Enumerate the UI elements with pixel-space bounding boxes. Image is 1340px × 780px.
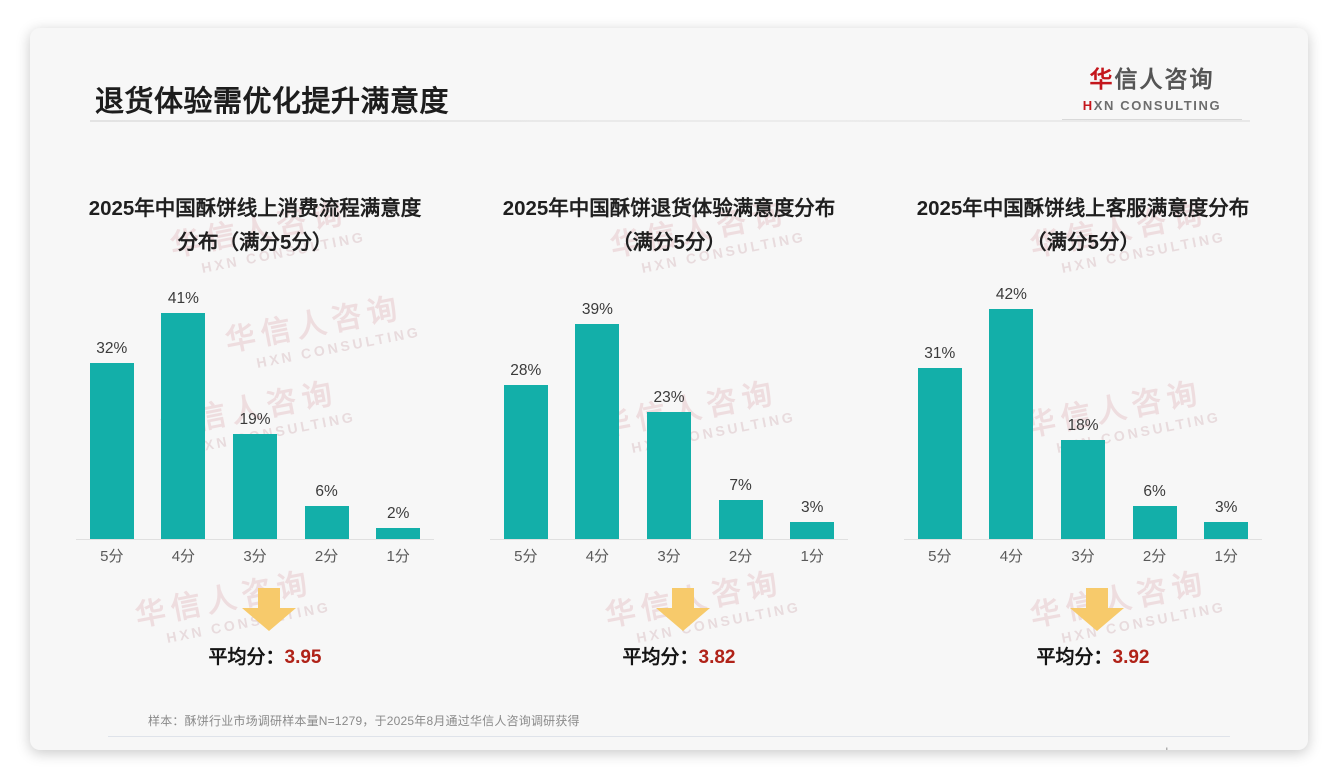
bar[interactable] xyxy=(504,385,548,539)
bar-value-label: 2% xyxy=(387,505,409,523)
down-arrow-wrap xyxy=(462,584,876,636)
x-axis-ticks: 5分 4分 3分 2分 1分 xyxy=(76,542,434,576)
slide-canvas: 华信人咨询 HXN CONSULTING 华信人咨询 HXN CONSULTIN… xyxy=(30,28,1308,750)
bar-series: 32% 41% 19% 6% xyxy=(76,286,434,539)
x-tick-label: 2分 xyxy=(705,542,777,576)
bar-value-label: 39% xyxy=(582,301,613,319)
x-tick-label: 3分 xyxy=(219,542,291,576)
chart-panel-return-experience: 2025年中国酥饼退货体验满意度分布（满分5分） 28% 39% 23% xyxy=(462,138,876,678)
x-axis-ticks: 5分 4分 3分 2分 1分 xyxy=(490,542,848,576)
bar-slot[interactable]: 6% xyxy=(291,286,363,539)
charts-row: 2025年中国酥饼线上消费流程满意度分布（满分5分） 32% 41% 19% xyxy=(48,138,1290,678)
bar-value-label: 3% xyxy=(1215,499,1237,517)
x-tick-label: 2分 xyxy=(291,542,363,576)
average-score: 平均分：3.92 xyxy=(876,642,1290,669)
bar-slot[interactable]: 42% xyxy=(976,286,1048,539)
bar-value-label: 28% xyxy=(510,362,541,380)
slide-header: 退货体验需优化提升满意度 华信人咨询 HXN CONSULTING xyxy=(30,28,1308,124)
average-score-label: 平均分： xyxy=(1037,647,1113,668)
bar-slot[interactable]: 31% xyxy=(904,286,976,539)
arrow-down-icon xyxy=(240,588,298,632)
bar-value-label: 6% xyxy=(1143,483,1165,501)
x-tick-label: 5分 xyxy=(490,542,562,576)
bar[interactable] xyxy=(575,324,619,539)
arrow-down-icon xyxy=(1068,588,1126,632)
bar-slot[interactable]: 3% xyxy=(776,286,848,539)
x-tick-label: 1分 xyxy=(1190,542,1262,576)
header-divider xyxy=(90,120,1250,122)
average-score-label: 平均分： xyxy=(209,647,285,668)
bar-slot[interactable]: 7% xyxy=(705,286,777,539)
average-score-value: 3.82 xyxy=(699,647,736,668)
bar[interactable] xyxy=(1204,522,1248,539)
down-arrow-wrap xyxy=(48,584,462,636)
bar-value-label: 32% xyxy=(96,340,127,358)
brand-logo-en-rest: XN CONSULTING xyxy=(1094,98,1221,113)
x-tick-label: 5分 xyxy=(76,542,148,576)
bar-series: 28% 39% 23% 7% xyxy=(490,286,848,539)
bar[interactable] xyxy=(1133,506,1177,539)
bar-slot[interactable]: 23% xyxy=(633,286,705,539)
x-axis-line xyxy=(76,539,434,540)
brand-logo-en-accent: H xyxy=(1083,98,1094,113)
chart-panel-customer-service: 2025年中国酥饼线上客服满意度分布（满分5分） 31% 42% 18% xyxy=(876,138,1290,678)
x-tick-label: 3分 xyxy=(633,542,705,576)
bar[interactable] xyxy=(233,434,277,539)
bar-slot[interactable]: 19% xyxy=(219,286,291,539)
bar[interactable] xyxy=(647,412,691,539)
bar-slot[interactable]: 32% xyxy=(76,286,148,539)
bar-value-label: 23% xyxy=(653,389,684,407)
bar[interactable] xyxy=(90,363,134,539)
average-score-value: 3.95 xyxy=(285,647,322,668)
bar-value-label: 19% xyxy=(239,411,270,429)
bar[interactable] xyxy=(918,368,962,539)
bar[interactable] xyxy=(376,528,420,539)
x-tick-label: 1分 xyxy=(776,542,848,576)
website-url[interactable]: www.hxrcon.com xyxy=(1136,746,1230,750)
bar[interactable] xyxy=(1061,440,1105,539)
chart-title: 2025年中国酥饼线上客服满意度分布（满分5分） xyxy=(876,138,1290,268)
footer-divider xyxy=(108,736,1230,737)
bar-series: 31% 42% 18% 6% xyxy=(904,286,1262,539)
x-tick-label: 5分 xyxy=(904,542,976,576)
bar[interactable] xyxy=(305,506,349,539)
x-tick-label: 1分 xyxy=(362,542,434,576)
chart-panel-consumption-process: 2025年中国酥饼线上消费流程满意度分布（满分5分） 32% 41% 19% xyxy=(48,138,462,678)
bar-value-label: 41% xyxy=(168,290,199,308)
x-tick-label: 4分 xyxy=(976,542,1048,576)
x-tick-label: 3分 xyxy=(1047,542,1119,576)
bar[interactable] xyxy=(161,313,205,539)
bar-slot[interactable]: 3% xyxy=(1190,286,1262,539)
x-axis-line xyxy=(904,539,1262,540)
bar-chart-plot: 28% 39% 23% 7% xyxy=(490,286,848,576)
x-tick-label: 2分 xyxy=(1119,542,1191,576)
bar-slot[interactable]: 39% xyxy=(562,286,634,539)
bar[interactable] xyxy=(790,522,834,539)
arrow-down-icon xyxy=(654,588,712,632)
average-score-label: 平均分： xyxy=(623,647,699,668)
average-score-value: 3.92 xyxy=(1113,647,1150,668)
copyright-text: ©2025.10 HXR华信人咨询 xyxy=(108,746,255,750)
bar-chart-plot: 32% 41% 19% 6% xyxy=(76,286,434,576)
bar-value-label: 42% xyxy=(996,286,1027,304)
chart-title: 2025年中国酥饼线上消费流程满意度分布（满分5分） xyxy=(48,138,462,268)
bar-slot[interactable]: 18% xyxy=(1047,286,1119,539)
bar[interactable] xyxy=(989,309,1033,539)
x-axis-ticks: 5分 4分 3分 2分 1分 xyxy=(904,542,1262,576)
down-arrow-wrap xyxy=(876,584,1290,636)
page-title: 退货体验需优化提升满意度 xyxy=(95,78,449,120)
bar-value-label: 3% xyxy=(801,499,823,517)
x-tick-label: 4分 xyxy=(148,542,220,576)
source-footnote: 样本：酥饼行业市场调研样本量N=1279，于2025年8月通过华信人咨询调研获得 xyxy=(148,712,580,729)
chart-title: 2025年中国酥饼退货体验满意度分布（满分5分） xyxy=(462,138,876,268)
average-score: 平均分：3.82 xyxy=(462,642,876,669)
bar-value-label: 6% xyxy=(315,483,337,501)
brand-logo-cn-accent: 华 xyxy=(1090,66,1115,92)
x-tick-label: 4分 xyxy=(562,542,634,576)
brand-logo-cn: 华信人咨询 xyxy=(1062,60,1242,94)
bar-slot[interactable]: 28% xyxy=(490,286,562,539)
bar-value-label: 18% xyxy=(1067,417,1098,435)
bar-value-label: 7% xyxy=(729,477,751,495)
bar-slot[interactable]: 41% xyxy=(148,286,220,539)
brand-logo-cn-rest: 信人咨询 xyxy=(1115,66,1215,92)
bar-slot[interactable]: 6% xyxy=(1119,286,1191,539)
x-axis-line xyxy=(490,539,848,540)
brand-logo-en: HXN CONSULTING xyxy=(1062,98,1242,113)
bar-chart-plot: 31% 42% 18% 6% xyxy=(904,286,1262,576)
bar[interactable] xyxy=(719,500,763,539)
brand-logo: 华信人咨询 HXN CONSULTING xyxy=(1062,60,1242,121)
bar-value-label: 31% xyxy=(924,345,955,363)
bar-slot[interactable]: 2% xyxy=(362,286,434,539)
average-score: 平均分：3.95 xyxy=(48,642,462,669)
